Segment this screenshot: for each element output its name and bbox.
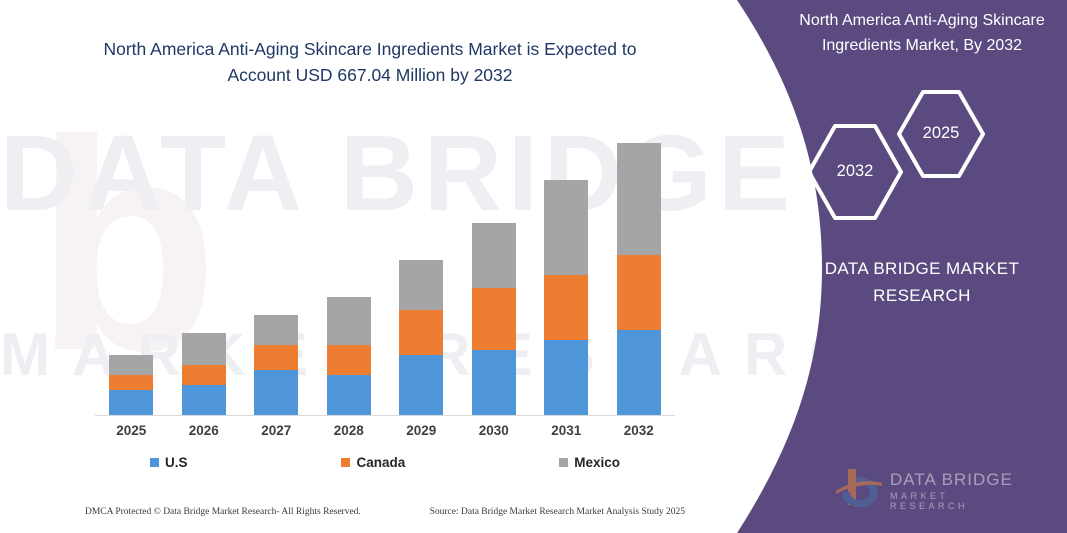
x-tick-2026: 2026 (168, 423, 240, 438)
bar-segment-mexico-2026 (182, 333, 226, 365)
bar-segment-mexico-2029 (399, 260, 443, 310)
bar-segment-us-2025 (109, 390, 153, 415)
x-tick-2029: 2029 (385, 423, 457, 438)
legend-item-us[interactable]: U.S (150, 455, 188, 470)
legend-label: Mexico (574, 455, 620, 470)
stacked-bar-2025[interactable] (109, 355, 153, 415)
x-tick-2028: 2028 (313, 423, 385, 438)
brand-panel-content: North America Anti-Aging Skincare Ingred… (637, 0, 1067, 533)
bar-segment-us-2027 (254, 370, 298, 415)
x-tick-2025: 2025 (95, 423, 167, 438)
bar-segment-mexico-2027 (254, 315, 298, 345)
bar-group-2031 (530, 180, 602, 415)
corner-logo-main: DATA BRIDGE (890, 470, 1013, 490)
footer: DMCA Protected © Data Bridge Market Rese… (85, 507, 685, 517)
bar-segment-us-2028 (327, 375, 371, 415)
stacked-bar-2029[interactable] (399, 260, 443, 415)
bar-segment-mexico-2030 (472, 223, 516, 288)
bar-segment-us-2030 (472, 350, 516, 415)
x-tick-2031: 2031 (530, 423, 602, 438)
stacked-bar-2031[interactable] (544, 180, 588, 415)
corner-logo: DATA BRIDGE MARKET RESEARCH (832, 465, 1032, 515)
brand-line2: RESEARCH (787, 282, 1057, 309)
bar-segment-us-2031 (544, 340, 588, 415)
chart-bars (95, 120, 675, 415)
chart-panel: North America Anti-Aging Skincare Ingred… (0, 0, 740, 533)
brand-line1: DATA BRIDGE MARKET (787, 255, 1057, 282)
bar-segment-canada-2025 (109, 375, 153, 390)
bar-group-2027 (240, 315, 312, 415)
bar-segment-canada-2030 (472, 288, 516, 350)
stacked-bar-2030[interactable] (472, 223, 516, 415)
bar-segment-canada-2026 (182, 365, 226, 385)
chart-legend: U.SCanadaMexico (150, 455, 620, 470)
x-tick-2027: 2027 (240, 423, 312, 438)
hexagon-2025-label: 2025 (895, 124, 987, 143)
bar-segment-mexico-2031 (544, 180, 588, 275)
panel-title: North America Anti-Aging Skincare Ingred… (787, 8, 1057, 58)
bar-group-2030 (458, 223, 530, 415)
hexagon-2032: 2032 (805, 122, 905, 222)
bar-segment-mexico-2028 (327, 297, 371, 345)
bar-segment-us-2029 (399, 355, 443, 415)
data-bridge-logo-icon (832, 465, 884, 511)
legend-item-canada[interactable]: Canada (341, 455, 405, 470)
page-title: North America Anti-Aging Skincare Ingred… (70, 36, 670, 88)
legend-swatch-icon (150, 458, 159, 467)
chart-baseline (95, 415, 675, 416)
stacked-bar-2027[interactable] (254, 315, 298, 415)
bar-segment-canada-2031 (544, 275, 588, 340)
bar-segment-us-2026 (182, 385, 226, 415)
brand-panel: North America Anti-Aging Skincare Ingred… (637, 0, 1067, 533)
hexagon-group: 2025 2032 (787, 80, 1057, 220)
bar-segment-canada-2028 (327, 345, 371, 375)
x-tick-2030: 2030 (458, 423, 530, 438)
hexagon-2025: 2025 (895, 88, 987, 180)
footer-copyright: DMCA Protected © Data Bridge Market Rese… (85, 507, 361, 517)
stacked-bar-chart (95, 120, 675, 416)
legend-swatch-icon (341, 458, 350, 467)
legend-label: U.S (165, 455, 188, 470)
bar-group-2028 (313, 297, 385, 415)
bar-segment-canada-2027 (254, 345, 298, 370)
legend-label: Canada (356, 455, 405, 470)
bar-group-2025 (95, 355, 167, 415)
bar-group-2026 (168, 333, 240, 415)
corner-logo-sub: MARKET RESEARCH (890, 491, 1032, 511)
legend-swatch-icon (559, 458, 568, 467)
hexagon-2032-label: 2032 (805, 162, 905, 181)
stacked-bar-2028[interactable] (327, 297, 371, 415)
x-axis-labels: 20252026202720282029203020312032 (95, 423, 675, 438)
bar-segment-mexico-2025 (109, 355, 153, 375)
bar-segment-canada-2029 (399, 310, 443, 355)
bar-group-2029 (385, 260, 457, 415)
stacked-bar-2026[interactable] (182, 333, 226, 415)
legend-item-mexico[interactable]: Mexico (559, 455, 620, 470)
brand-name: DATA BRIDGE MARKET RESEARCH (787, 255, 1057, 309)
